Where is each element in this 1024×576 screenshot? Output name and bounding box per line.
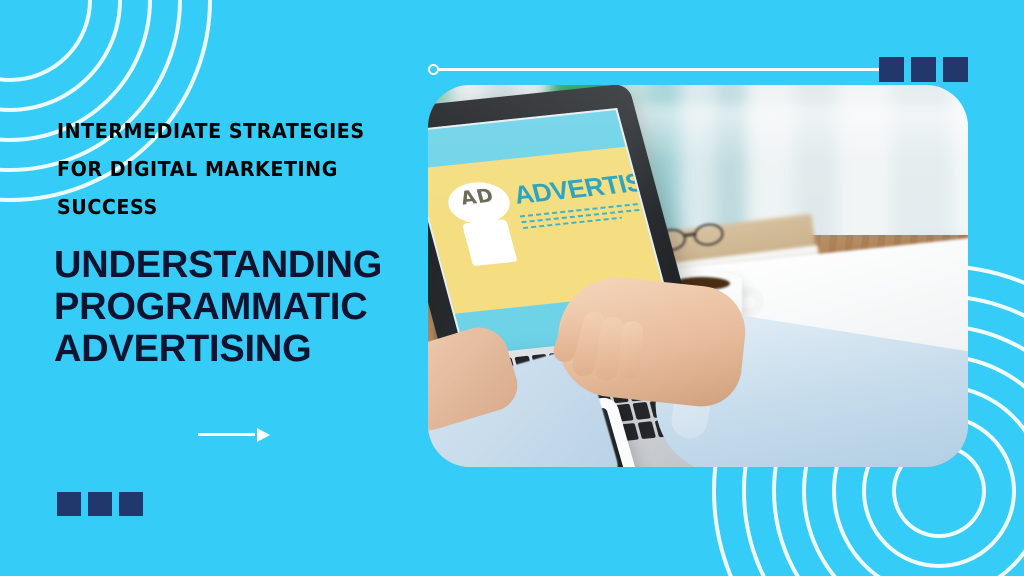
rule-line [438,68,900,71]
arrow-shaft [198,433,255,436]
headline-line-3: ADVERTISING [54,328,454,370]
square-icon [88,492,112,516]
slide-canvas: INTERMEDIATE STRATEGIES FOR DIGITAL MARK… [0,0,1024,576]
square-icon [119,492,143,516]
square-icon [879,57,904,82]
square-icon [57,492,81,516]
headline-line-2: PROGRAMMATIC [54,286,454,328]
eyebrow-line-2: FOR DIGITAL MARKETING [57,157,338,181]
headline-line-1: UNDERSTANDING [54,244,454,286]
eyebrow-text: INTERMEDIATE STRATEGIES FOR DIGITAL MARK… [57,112,373,226]
page-title: UNDERSTANDING PROGRAMMATIC ADVERTISING [54,244,454,370]
right-arrow-icon [198,428,270,442]
eyebrow-line-3: SUCCESS [57,195,158,219]
hero-photo: AD ADVERTISING [428,85,968,467]
square-icon [943,57,968,82]
squares-top-right [879,57,968,82]
squares-bottom-left [57,492,143,516]
square-icon [911,57,936,82]
finger [618,320,644,379]
eyebrow-line-1: INTERMEDIATE STRATEGIES [57,119,365,143]
arrow-head [257,428,270,442]
